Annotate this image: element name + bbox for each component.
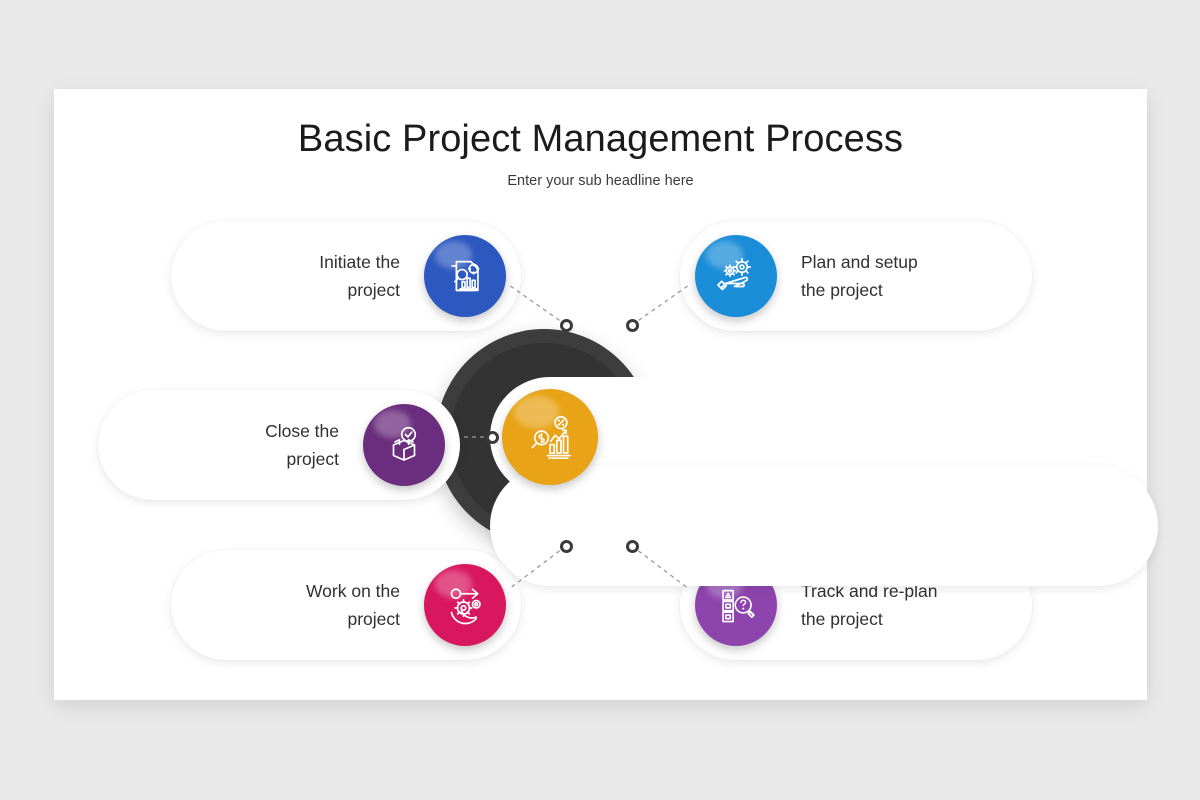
- step-icon-bubble-close[interactable]: [363, 404, 445, 486]
- checklist-search-icon: [713, 582, 759, 628]
- step-icon-bubble-work[interactable]: [424, 564, 506, 646]
- step-label-close: Close the project: [265, 417, 339, 474]
- center-banner: [490, 466, 1158, 586]
- connector-dot-work: [560, 540, 573, 553]
- slide-canvas: Basic Project Management Process Enter y…: [54, 89, 1147, 700]
- step-card-plan[interactable]: Plan and setup the project: [680, 221, 1032, 331]
- step-label-plan: Plan and setup the project: [801, 248, 918, 305]
- page-subtitle: Enter your sub headline here: [54, 173, 1147, 189]
- hand-gears-icon: [712, 252, 760, 300]
- document-report-search-icon: [442, 253, 488, 299]
- step-label-initiate: Initiate the project: [319, 248, 400, 305]
- step-card-work[interactable]: Work on the project: [171, 550, 521, 660]
- step-icon-bubble-initiate[interactable]: [424, 235, 506, 317]
- gear-arrow-process-icon: [441, 581, 489, 629]
- page-title: Basic Project Management Process: [54, 118, 1147, 161]
- step-card-close[interactable]: Close the project: [98, 390, 460, 500]
- open-box-check-icon: [380, 421, 428, 469]
- analytics-chart-icon: [523, 410, 577, 464]
- connector-dot-close: [486, 431, 499, 444]
- step-label-work: Work on the project: [306, 577, 400, 634]
- step-icon-bubble-plan[interactable]: [695, 235, 777, 317]
- step-card-initiate[interactable]: Initiate the project: [171, 221, 521, 331]
- center-icon-bubble[interactable]: [502, 389, 598, 485]
- connector-dot-plan: [626, 319, 639, 332]
- connector-dot-initiate: [560, 319, 573, 332]
- connector-dot-track: [626, 540, 639, 553]
